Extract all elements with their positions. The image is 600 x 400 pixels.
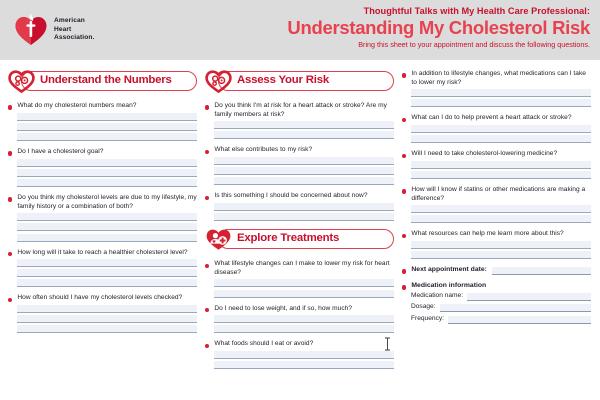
question-item: Is this something I should be concerned … [205,192,394,221]
write-in-lines [411,161,591,179]
write-in-line[interactable] [411,241,591,249]
write-in-line[interactable] [17,279,197,287]
question-item: What lifestyle changes can I make to low… [205,260,394,297]
write-in-line[interactable] [17,269,197,277]
write-in-line[interactable] [411,161,591,169]
section-explore-treatments: Explore TreatmentsWhat lifestyle changes… [205,228,394,369]
bullet-icon [205,150,209,154]
question-item: What can I do to help prevent a heart at… [402,114,591,143]
question-text: Do I need to lose weight, and if so, how… [214,305,352,314]
bullet-icon [8,105,12,109]
column-3: In addition to lifestyle changes, what m… [402,70,591,400]
write-in-line[interactable] [214,213,394,221]
question-item: What do my cholesterol numbers mean? [8,102,197,141]
write-in-line[interactable] [17,169,197,177]
bullet-icon [205,308,209,312]
write-in-lines [214,157,394,185]
field-label: Medication information [411,282,486,289]
question-text: What foods should I eat or avoid? [214,340,313,349]
question-item: How often should I have my cholesterol l… [8,294,197,333]
write-in-line[interactable] [214,121,394,129]
question-item: In addition to lifestyle changes, what m… [402,70,591,107]
write-in-lines [411,125,591,143]
bullet-icon [402,154,406,158]
sub-fields: Medication name:Dosage:Frequency: [411,292,591,324]
write-in-line[interactable] [17,113,197,121]
question-item: How long will it take to reach a healthi… [8,249,197,288]
write-in-line[interactable] [411,135,591,143]
question-text: In addition to lifestyle changes, what m… [411,70,591,87]
question-text: Do you think I'm at risk for a heart att… [214,102,394,119]
field-medication-information: Medication informationMedication name:Do… [402,282,591,324]
field-label: Next appointment date: [411,266,487,273]
write-in-line[interactable] [214,177,394,185]
question-text: How will I know if statins or other medi… [411,186,591,203]
section-title: Explore Treatments [237,232,339,244]
header-titles: Thoughtful Talks with My Health Care Pro… [230,5,590,50]
write-in-lines [214,351,394,369]
write-in-line[interactable] [17,159,197,167]
worksheet-body: Understand the NumbersWhat do my cholest… [0,60,600,400]
question-item: What else contributes to my risk? [205,146,394,185]
write-in-line[interactable] [17,213,197,221]
bullet-icon [205,344,209,348]
bullet-icon [8,151,12,155]
bullet-icon [402,189,406,193]
section-assess-your-risk: Assess Your RiskDo you think I'm at risk… [205,70,394,221]
question-item: Do you think my cholesterol levels are d… [8,194,197,242]
column-2: Assess Your RiskDo you think I'm at risk… [205,70,394,400]
write-in-line[interactable] [214,361,394,369]
write-in-lines [17,259,197,287]
section-header-assess-your-risk: Assess Your Risk [205,70,394,93]
write-in-line[interactable] [214,290,394,298]
section-title: Understand the Numbers [40,74,172,86]
sub-field-medication-name: Medication name: [411,292,591,301]
write-in-line[interactable] [214,157,394,165]
heart-with-gears-icon [8,70,35,93]
write-in-lines [17,213,197,241]
aha-logo: American Heart Association. [14,14,94,46]
bullet-icon [402,73,406,77]
field-next-appointment-date: Next appointment date: [402,266,591,275]
logo-line-2: Heart [54,26,94,34]
worksheet-page: American Heart Association. Thoughtful T… [0,0,600,400]
section-header-explore-treatments: Explore Treatments [205,228,394,251]
write-in-line[interactable] [17,325,197,333]
bullet-icon [8,197,12,201]
sub-field-label: Medication name: [411,292,463,299]
write-in-line[interactable] [214,279,394,287]
question-text: Do you think my cholesterol levels are d… [17,194,197,211]
bullet-icon [402,269,406,273]
write-in-line[interactable] [17,259,197,267]
write-in-lines [411,241,591,259]
logo-line-1: American [54,17,94,25]
sub-field-dosage: Dosage: [411,303,591,312]
bullet-icon [205,105,209,109]
write-in-line[interactable] [411,125,591,133]
bullet-icon [402,118,406,122]
question-item: Do you think I'm at risk for a heart att… [205,102,394,139]
section-title: Assess Your Risk [237,74,329,86]
bullet-icon [8,298,12,302]
write-in-line[interactable] [17,223,197,231]
write-in-line[interactable] [214,131,394,139]
write-in-line[interactable] [214,315,394,323]
write-in-line[interactable] [411,99,591,107]
write-in-lines [411,205,591,223]
write-in-lines [17,113,197,141]
page-header: American Heart Association. Thoughtful T… [0,0,600,60]
aha-logo-text: American Heart Association. [54,17,94,42]
write-in-lines [214,121,394,139]
section-header-understand-the-numbers: Understand the Numbers [8,70,197,93]
section-explore-treatments-continued: In addition to lifestyle changes, what m… [402,70,591,259]
write-in-lines [17,159,197,187]
write-in-line[interactable] [17,234,197,242]
write-in-line[interactable] [411,251,591,259]
heart-torch-logo-icon [14,14,48,46]
write-in-lines [214,315,394,333]
page-title: Understanding My Cholesterol Risk [230,17,590,39]
column-1: Understand the NumbersWhat do my cholest… [8,70,197,400]
write-in-line[interactable] [411,89,591,97]
heart-with-gears-icon [205,70,232,93]
question-text: What can I do to help prevent a heart at… [411,114,571,123]
write-in-line[interactable] [214,351,394,359]
question-text: Will I need to take cholesterol-lowering… [411,150,557,159]
sub-field-frequency: Frequency: [411,315,591,324]
footer-fields: Next appointment date:Medication informa… [402,266,591,324]
write-in-line[interactable] [17,179,197,187]
write-in-line[interactable] [17,315,197,323]
question-text: What resources can help me learn more ab… [411,230,563,239]
question-text: How long will it take to reach a healthi… [17,249,187,258]
person-with-medical-cross-icon [205,228,232,251]
write-in-line[interactable] [411,171,591,179]
sub-field-input[interactable] [440,304,591,312]
logo-line-3: Association. [54,34,94,42]
question-text: Do I have a cholesterol goal? [17,148,103,157]
question-item: Will I need to take cholesterol-lowering… [402,150,591,179]
write-in-line[interactable] [17,133,197,141]
text-ibeam-cursor [384,337,391,351]
write-in-line[interactable] [214,203,394,211]
write-in-line[interactable] [411,205,591,213]
bullet-icon [205,264,209,268]
bullet-icon [8,252,12,256]
question-item: Do I need to lose weight, and if so, how… [205,305,394,334]
section-understand-the-numbers: Understand the NumbersWhat do my cholest… [8,70,197,333]
write-in-line[interactable] [214,167,394,175]
header-eyebrow: Thoughtful Talks with My Health Care Pro… [230,5,590,17]
question-item: Do I have a cholesterol goal? [8,148,197,187]
write-in-line[interactable] [17,123,197,131]
question-text: What else contributes to my risk? [214,146,312,155]
bullet-icon [205,196,209,200]
field-input[interactable] [492,267,591,275]
question-text: How often should I have my cholesterol l… [17,294,182,303]
write-in-lines [411,89,591,107]
write-in-lines [214,279,394,297]
question-item: What foods should I eat or avoid? [205,340,394,369]
question-text: Is this something I should be concerned … [214,192,367,201]
write-in-lines [214,203,394,221]
write-in-line[interactable] [411,215,591,223]
write-in-line[interactable] [17,305,197,313]
question-text: What do my cholesterol numbers mean? [17,102,136,111]
sub-field-label: Frequency: [411,315,444,322]
sub-field-label: Dosage: [411,303,436,310]
bullet-icon [402,285,406,289]
sub-field-input[interactable] [448,316,591,324]
sub-field-input[interactable] [467,293,591,301]
write-in-line[interactable] [214,325,394,333]
question-text: What lifestyle changes can I make to low… [214,260,394,277]
write-in-lines [17,305,197,333]
question-item: What resources can help me learn more ab… [402,230,591,259]
question-item: How will I know if statins or other medi… [402,186,591,223]
bullet-icon [402,234,406,238]
header-subtitle: Bring this sheet to your appointment and… [230,39,590,50]
